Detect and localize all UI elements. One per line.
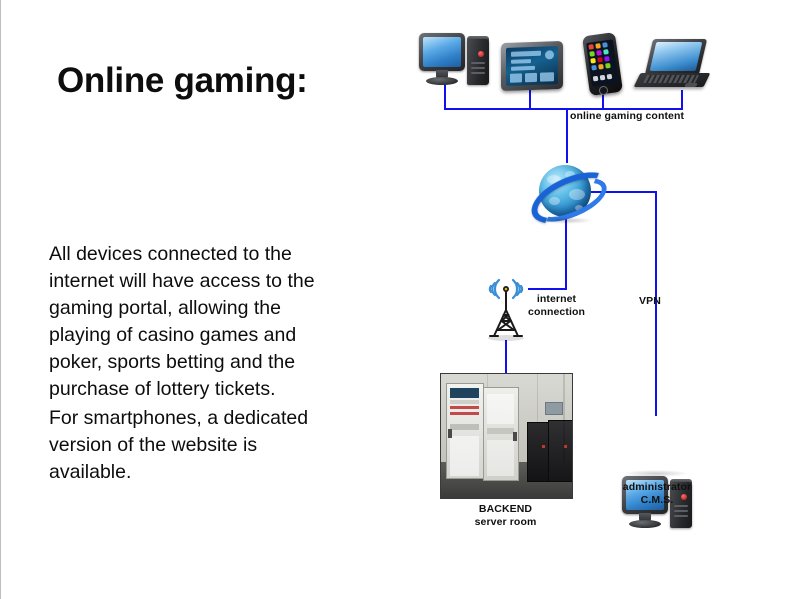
- wire-laptop-drop: [681, 90, 683, 109]
- label-online-gaming-content: online gaming content: [570, 110, 684, 123]
- globe-internet-icon: [527, 161, 605, 225]
- wire-bus-to-globe: [566, 108, 568, 163]
- drive-bay: [674, 515, 688, 517]
- laptop-screen: [650, 42, 703, 71]
- label-backend-line2: server room: [440, 516, 571, 529]
- wire-desktop-drop: [444, 85, 446, 109]
- wire-antenna-to-server: [505, 340, 507, 373]
- monitor-base: [629, 520, 661, 528]
- label-administrator-line1: administrator: [597, 481, 717, 494]
- label-vpn: VPN: [639, 295, 661, 308]
- label-internet-connection-line2: connection: [528, 306, 585, 319]
- label-administrator-line2: C.M.S.: [597, 494, 717, 507]
- label-administrator-cms: administrator C.M.S.: [597, 481, 717, 507]
- monitor-base: [426, 77, 458, 85]
- label-backend-line1: BACKEND: [440, 503, 571, 516]
- tablet-screen: [506, 46, 558, 86]
- server-rack-black: [548, 420, 573, 482]
- wall-panel: [545, 402, 563, 415]
- power-led-icon: [478, 51, 484, 57]
- desktop-computer-icon: [419, 31, 491, 87]
- label-backend-server-room: BACKEND server room: [440, 503, 571, 529]
- label-internet-connection-line1: internet: [528, 293, 585, 306]
- presentation-slide: Online gaming: All devices connected to …: [0, 0, 799, 599]
- monitor-screen: [423, 37, 461, 67]
- home-button-icon: [598, 85, 608, 95]
- drive-bay: [471, 72, 485, 74]
- laptop-icon: [635, 39, 711, 91]
- antenna-tower-icon: [477, 270, 535, 342]
- tablet-icon: [501, 42, 565, 92]
- drive-bay: [674, 510, 688, 512]
- drive-bay: [471, 67, 485, 69]
- administrator-computer-shadow: [623, 470, 689, 477]
- wire-globe-down: [565, 215, 567, 289]
- label-internet-connection: internet connection: [528, 293, 585, 319]
- globe-shadow: [537, 217, 593, 224]
- server-cabinet-white: [483, 387, 519, 481]
- drive-bay: [471, 62, 485, 64]
- laptop-keyboard: [643, 75, 699, 83]
- server-room-photo: [440, 373, 573, 499]
- server-cabinet-white: [446, 383, 484, 479]
- network-diagram: online gaming content: [1, 0, 799, 599]
- smartphone-icon: [586, 34, 622, 96]
